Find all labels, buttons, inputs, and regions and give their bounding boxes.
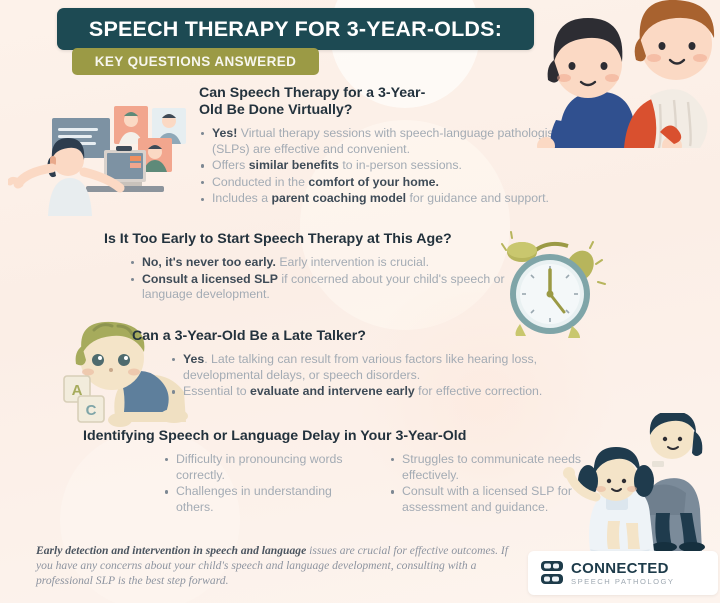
list-item: Offers similar benefits to in-person ses… <box>199 158 599 174</box>
connected-speech-bubble-icon <box>540 560 564 586</box>
subtitle-badge: KEY QUESTIONS ANSWERED <box>72 48 319 75</box>
bullet-list: Yes. Late talking can result from variou… <box>170 352 604 400</box>
subtitle-text: KEY QUESTIONS ANSWERED <box>95 54 297 69</box>
section-heading: Can a 3-Year-Old Be a Late Talker? <box>132 328 604 345</box>
title-banner: SPEECH THERAPY FOR 3-YEAR-OLDS: <box>57 8 534 50</box>
svg-text:C: C <box>86 402 97 419</box>
list-item: Yes. Late talking can result from variou… <box>170 352 604 383</box>
bullet-emphasis: similar benefits <box>249 158 339 172</box>
list-item: Includes a parent coaching model for gui… <box>199 191 599 207</box>
section-identifying-delay: Identifying Speech or Language Delay in … <box>83 428 603 516</box>
bullet-text: for effective correction. <box>415 384 543 398</box>
list-item: Essential to evaluate and intervene earl… <box>170 384 604 400</box>
bullet-prefix: Offers <box>212 158 249 172</box>
bullet-emphasis: No, it's never too early. <box>142 255 276 269</box>
two-crawling-toddlers-illustration <box>520 0 720 148</box>
bullet-text: . Late talking can result from various f… <box>183 352 537 382</box>
bullet-emphasis: evaluate and intervene early <box>250 384 415 398</box>
section-heading: Can Speech Therapy for a 3-Year-Old Be D… <box>199 85 439 119</box>
bullet-emphasis: Consult a licensed SLP <box>142 272 278 286</box>
bullet-emphasis: parent coaching model <box>271 191 406 205</box>
bullet-emphasis: Yes <box>183 352 204 366</box>
bullet-text: Virtual therapy sessions with speech-lan… <box>212 126 563 156</box>
section-heading: Identifying Speech or Language Delay in … <box>83 428 603 445</box>
mother-and-daughter-illustration <box>560 413 720 551</box>
page-title: SPEECH THERAPY FOR 3-YEAR-OLDS: <box>89 17 502 42</box>
list-item: Conducted in the comfort of your home. <box>199 175 599 191</box>
two-column-bullets: Difficulty in pronouncing words correctl… <box>163 452 603 516</box>
logo-wordmark: CONNECTED SPEECH PATHOLOGY <box>571 561 674 586</box>
list-item: Difficulty in pronouncing words correctl… <box>163 452 363 483</box>
bullet-text: to in-person sessions. <box>339 158 462 172</box>
bullet-emphasis: Yes! <box>212 126 237 140</box>
bullet-text: Early intervention is crucial. <box>276 255 429 269</box>
list-item: Challenges in understanding others. <box>163 484 363 515</box>
infographic-canvas: SPEECH THERAPY FOR 3-YEAR-OLDS: KEY QUES… <box>0 0 720 603</box>
section-too-early: Is It Too Early to Start Speech Therapy … <box>104 231 524 304</box>
bullet-list: No, it's never too early. Early interven… <box>129 255 524 303</box>
list-item: Consult a licensed SLP if concerned abou… <box>129 272 524 303</box>
bullet-list-left: Difficulty in pronouncing words correctl… <box>163 452 363 516</box>
logo-card[interactable]: CONNECTED SPEECH PATHOLOGY <box>528 551 718 595</box>
bullet-text: for guidance and support. <box>406 191 549 205</box>
bullet-prefix: Essential to <box>183 384 250 398</box>
bullet-list-right: Struggles to communicate needs effective… <box>389 452 589 516</box>
footer-emphasis: Early detection and intervention in spee… <box>36 544 306 557</box>
logo-name: CONNECTED <box>571 561 674 576</box>
footer-note: Early detection and intervention in spee… <box>36 543 516 589</box>
section-heading: Is It Too Early to Start Speech Therapy … <box>104 231 524 248</box>
list-item: No, it's never too early. Early interven… <box>129 255 524 271</box>
list-item: Consult with a licensed SLP for assessme… <box>389 484 589 515</box>
bullet-prefix: Conducted in the <box>212 175 308 189</box>
list-item: Struggles to communicate needs effective… <box>389 452 589 483</box>
bullet-emphasis: comfort of your home. <box>308 175 439 189</box>
section-late-talker: Can a 3-Year-Old Be a Late Talker? Yes. … <box>132 328 604 401</box>
telehealth-video-call-illustration <box>8 98 188 218</box>
logo-tagline: SPEECH PATHOLOGY <box>571 578 674 586</box>
bullet-prefix: Includes a <box>212 191 271 205</box>
